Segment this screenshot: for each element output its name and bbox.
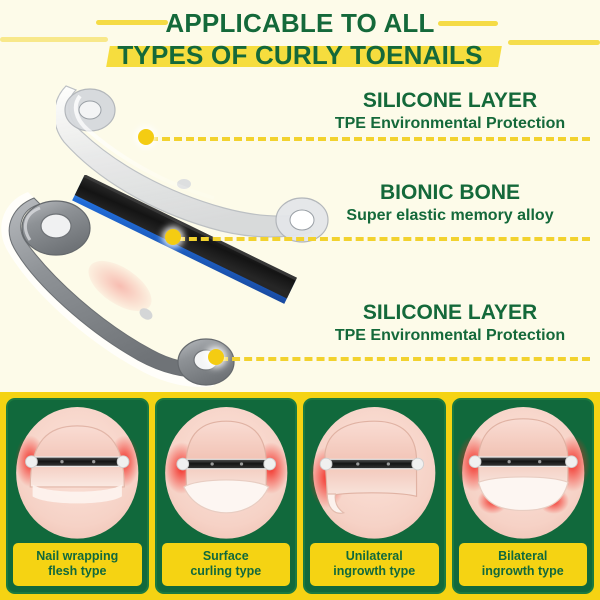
card-label-line-1: Unilateral [311, 549, 438, 564]
card-label-line-2: ingrowth type [311, 564, 438, 579]
card-illustration [8, 400, 147, 541]
headline-line-2: TYPES OF CURLY TOENAILS [0, 40, 600, 70]
card-illustration [157, 400, 296, 541]
toe-surface-curling-icon [157, 400, 296, 541]
card-label: Surface curling type [160, 541, 293, 588]
leader-dot-silicone-bottom [208, 349, 224, 365]
toe-bilateral-ingrowth-icon [454, 400, 593, 541]
card-bilateral-ingrowth[interactable]: Bilateral ingrowth type [452, 398, 595, 594]
infographic-poster: APPLICABLE TO ALL TYPES OF CURLY TOENAIL… [0, 0, 600, 600]
leader-dot-bionic-bone [165, 229, 181, 245]
card-label: Nail wrapping flesh type [11, 541, 144, 588]
toe-unilateral-ingrowth-icon [305, 400, 444, 541]
header: APPLICABLE TO ALL TYPES OF CURLY TOENAIL… [0, 0, 600, 82]
card-label-line-2: ingrowth type [460, 564, 587, 579]
card-label-line-1: Nail wrapping [14, 549, 141, 564]
card-label: Unilateral ingrowth type [308, 541, 441, 588]
card-illustration [305, 400, 444, 541]
card-unilateral-ingrowth[interactable]: Unilateral ingrowth type [303, 398, 446, 594]
leader-line-silicone-bottom [220, 357, 590, 361]
card-label-line-1: Bilateral [460, 549, 587, 564]
card-surface-curling[interactable]: Surface curling type [155, 398, 298, 594]
card-label: Bilateral ingrowth type [457, 541, 590, 588]
card-label-line-1: Surface [163, 549, 290, 564]
leader-dot-silicone-top [138, 129, 154, 145]
card-nail-wrapping-flesh[interactable]: Nail wrapping flesh type [6, 398, 149, 594]
headline-line-1: APPLICABLE TO ALL [0, 8, 600, 38]
card-label-line-2: curling type [163, 564, 290, 579]
leader-line-bionic-bone [177, 237, 590, 241]
card-label-line-2: flesh type [14, 564, 141, 579]
callout-subtitle: TPE Environmental Protection [300, 325, 600, 346]
nail-types-panel: Nail wrapping flesh type [0, 392, 600, 600]
toe-nail-wrapping-flesh-icon [8, 400, 147, 541]
card-illustration [454, 400, 593, 541]
product-diagram: SILICONE LAYER TPE Environmental Protect… [0, 80, 600, 392]
callout-title: SILICONE LAYER [300, 300, 600, 325]
nail-types-card-row: Nail wrapping flesh type [6, 398, 594, 594]
callout-silicone-layer-bottom: SILICONE LAYER TPE Environmental Protect… [300, 300, 600, 346]
leader-line-silicone-top [150, 137, 590, 141]
